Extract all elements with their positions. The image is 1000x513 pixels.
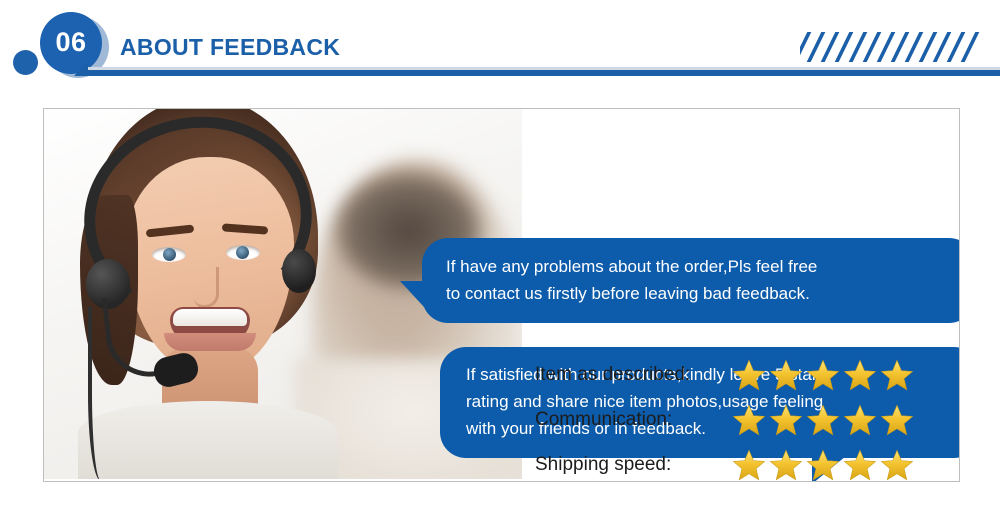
star-icon	[768, 403, 804, 437]
rule-dark	[84, 70, 1000, 76]
rating-list: Item as described:Communication:Shipping…	[535, 352, 955, 482]
headset-earcup-right	[282, 249, 316, 293]
rating-row: Item as described:	[535, 352, 955, 397]
rating-row: Shipping speed:	[535, 442, 955, 482]
star-icon	[842, 403, 878, 437]
star-icon	[731, 358, 767, 392]
speech-bubble-tail-left	[400, 281, 424, 307]
star-icon	[879, 358, 915, 392]
rating-label: Item as described:	[535, 364, 731, 386]
circle-dot-icon	[13, 50, 38, 75]
star-icon	[768, 358, 804, 392]
star-rating	[731, 358, 915, 392]
star-rating	[731, 403, 915, 437]
rating-label: Shipping speed:	[535, 454, 731, 476]
page-title: ABOUT FEEDBACK	[120, 34, 340, 61]
rating-label: Communication:	[535, 409, 731, 431]
speech-bubble-problems-text: If have any problems about the order,Pls…	[446, 253, 955, 307]
star-icon	[879, 448, 915, 482]
star-icon	[805, 358, 841, 392]
section-number-label: 06	[55, 29, 86, 58]
section-header: 06 ABOUT FEEDBACK	[0, 0, 1000, 96]
star-icon	[879, 403, 915, 437]
star-icon	[805, 448, 841, 482]
section-number-badge: 06	[40, 12, 102, 74]
star-icon	[731, 448, 767, 482]
feedback-panel: If have any problems about the order,Pls…	[43, 108, 960, 482]
star-icon	[805, 403, 841, 437]
headset-cable	[88, 307, 114, 479]
star-icon	[768, 448, 804, 482]
star-icon	[842, 358, 878, 392]
speech-bubble-problems: If have any problems about the order,Pls…	[422, 238, 960, 323]
diagonal-hatch-decoration	[800, 32, 984, 62]
star-icon	[842, 448, 878, 482]
agent-lower-lip	[164, 333, 256, 351]
agent-shoulders	[78, 401, 338, 479]
star-icon	[731, 403, 767, 437]
rating-row: Communication:	[535, 397, 955, 442]
star-rating	[731, 448, 915, 482]
